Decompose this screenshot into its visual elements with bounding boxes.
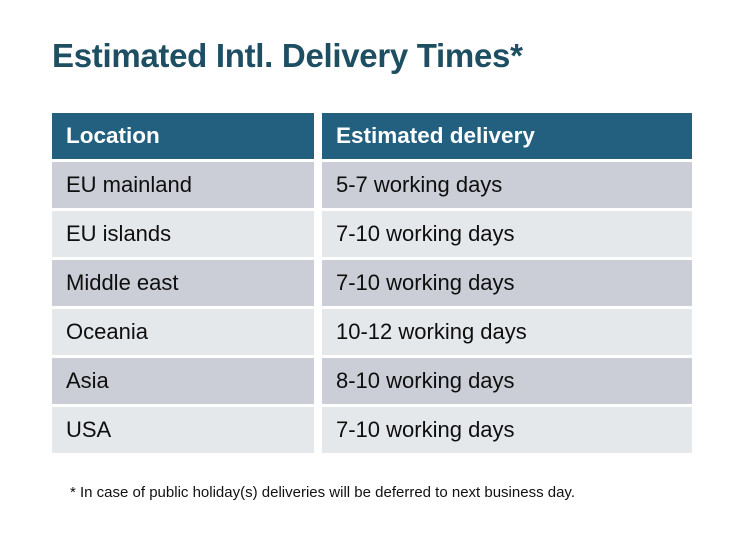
table-row: EU islands 7-10 working days (52, 211, 692, 257)
cell-location: Oceania (52, 309, 314, 355)
cell-location: Asia (52, 358, 314, 404)
column-divider (314, 162, 322, 208)
column-divider (314, 358, 322, 404)
footnote: * In case of public holiday(s) deliverie… (70, 483, 575, 503)
delivery-times-card: Estimated Intl. Delivery Times* Location… (0, 0, 745, 536)
column-divider (314, 407, 322, 453)
column-header-estimated-delivery: Estimated delivery (322, 113, 692, 159)
table-body: EU mainland 5-7 working days EU islands … (52, 159, 692, 453)
table-row: Oceania 10-12 working days (52, 309, 692, 355)
table-row: USA 7-10 working days (52, 407, 692, 453)
column-divider (314, 260, 322, 306)
cell-estimate: 5-7 working days (322, 162, 692, 208)
table-header: Location Estimated delivery (52, 113, 692, 159)
table-row: EU mainland 5-7 working days (52, 162, 692, 208)
cell-location: USA (52, 407, 314, 453)
cell-location: EU islands (52, 211, 314, 257)
column-divider (314, 309, 322, 355)
table-row: Middle east 7-10 working days (52, 260, 692, 306)
cell-estimate: 7-10 working days (322, 211, 692, 257)
delivery-times-table: Location Estimated delivery EU mainland … (52, 113, 692, 453)
table-row: Asia 8-10 working days (52, 358, 692, 404)
cell-estimate: 7-10 working days (322, 260, 692, 306)
column-divider (314, 113, 322, 159)
cell-location: EU mainland (52, 162, 314, 208)
cell-estimate: 8-10 working days (322, 358, 692, 404)
cell-location: Middle east (52, 260, 314, 306)
cell-estimate: 10-12 working days (322, 309, 692, 355)
column-header-location: Location (52, 113, 314, 159)
page-title: Estimated Intl. Delivery Times* (52, 36, 523, 76)
table-header-row: Location Estimated delivery (52, 113, 692, 159)
column-divider (314, 211, 322, 257)
cell-estimate: 7-10 working days (322, 407, 692, 453)
